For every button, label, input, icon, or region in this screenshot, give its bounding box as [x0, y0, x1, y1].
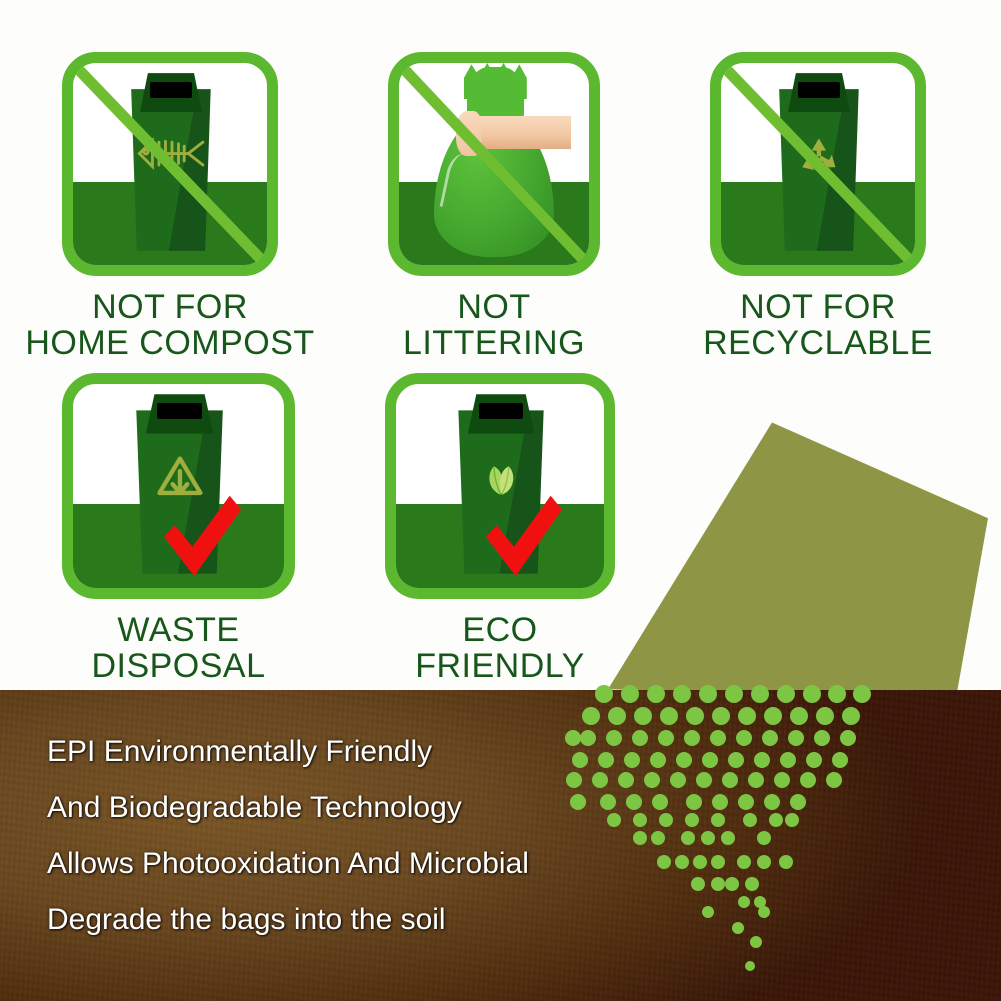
card-label: NOT FOR HOME COMPOST — [22, 290, 318, 361]
card-frame — [62, 373, 295, 599]
card-frame — [388, 52, 600, 276]
bin-slot — [798, 82, 839, 98]
card-frame — [710, 52, 926, 276]
card-label: WASTE DISPOSAL — [22, 613, 335, 684]
soil-description-text: EPI Environmentally Friendly And Biodegr… — [47, 724, 529, 948]
product-infographic: NOT FOR HOME COMPOSTNOT LITTERINGNOT FOR… — [0, 0, 1001, 1001]
icon-card-not-littering[interactable]: NOT LITTERING — [388, 52, 600, 386]
red-checkmark-icon — [157, 486, 246, 584]
card-label: NOT LITTERING — [348, 290, 640, 361]
degrading-plastic-bag-sheet — [600, 408, 1000, 698]
soil-panel: EPI Environmentally Friendly And Biodegr… — [0, 690, 1001, 1001]
icon-card-not-for-home-compost[interactable]: NOT FOR HOME COMPOST — [62, 52, 278, 386]
card-frame — [385, 373, 615, 599]
soil-line-3: Allows Photooxidation And Microbial — [47, 836, 529, 892]
red-checkmark-icon — [479, 486, 566, 584]
bin-slot — [157, 403, 202, 419]
card-label: ECO FRIENDLY — [345, 613, 655, 684]
soil-line-1: EPI Environmentally Friendly — [47, 724, 529, 780]
icon-card-not-for-recyclable[interactable]: NOT FOR RECYCLABLE — [710, 52, 926, 386]
soil-line-4: Degrade the bags into the soil — [47, 892, 529, 948]
icon-card-waste-disposal[interactable]: WASTE DISPOSAL — [62, 373, 295, 709]
bin-slot — [479, 403, 523, 419]
card-label: NOT FOR RECYCLABLE — [670, 290, 966, 361]
icon-card-eco-friendly[interactable]: ECO FRIENDLY — [385, 373, 615, 709]
bin-slot — [150, 82, 191, 98]
card-frame — [62, 52, 278, 276]
soil-line-2: And Biodegradable Technology — [47, 780, 529, 836]
